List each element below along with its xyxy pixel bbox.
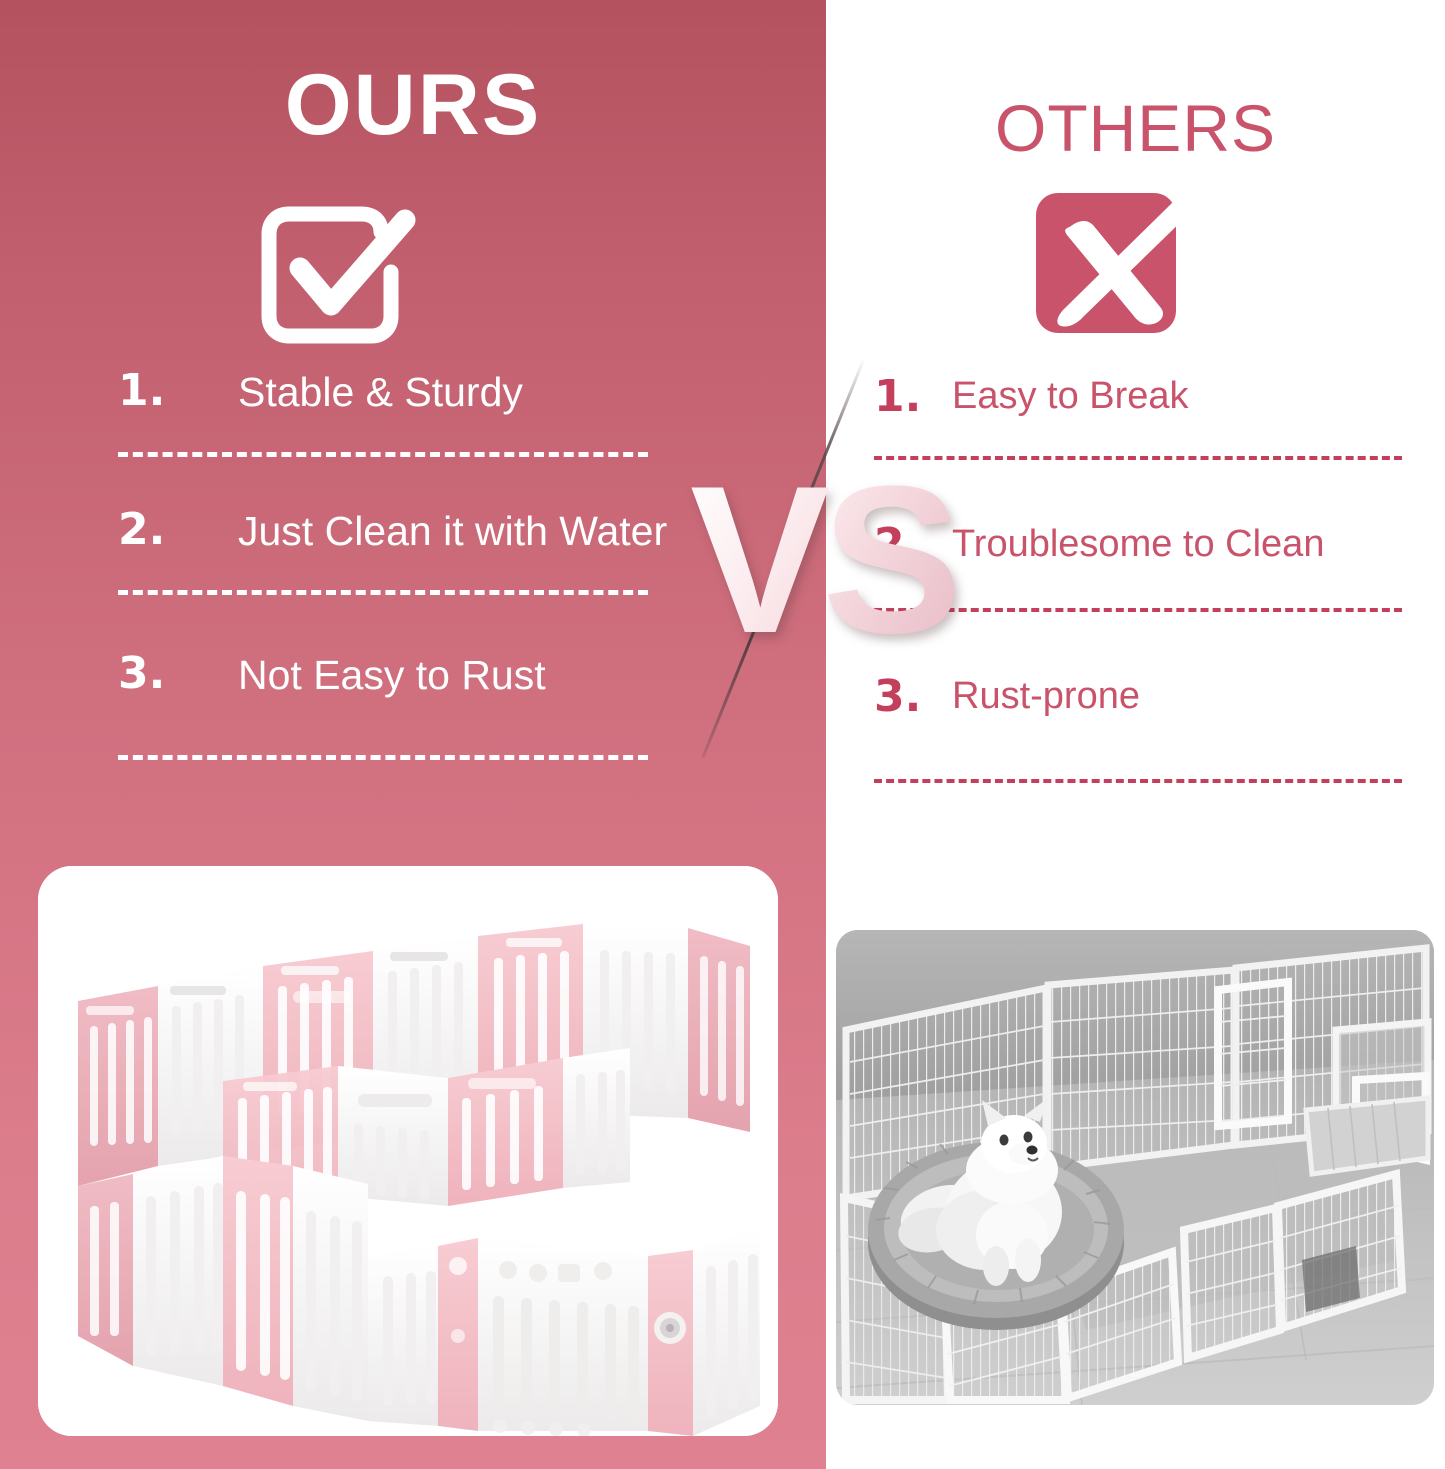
versus-label: VS <box>690 455 954 665</box>
list-item: 2. Troublesome to Clean <box>874 522 1414 568</box>
list-item: 1. Easy to Break <box>874 374 1414 420</box>
list-item-label: Rust-prone <box>952 674 1414 719</box>
list-item-label: Troublesome to Clean <box>952 522 1414 567</box>
list-item-label: Not Easy to Rust <box>238 651 678 699</box>
list-item-number: 2. <box>118 507 238 553</box>
list-item-number: 1. <box>118 368 238 414</box>
checkbox-check-icon <box>253 198 423 358</box>
list-item: 2. Just Clean it with Water <box>118 507 678 555</box>
ours-product-photo <box>38 866 778 1436</box>
others-product-photo <box>836 930 1434 1405</box>
list-item: 1. Stable & Sturdy <box>118 368 678 416</box>
others-heading: OTHERS <box>826 95 1445 161</box>
list-divider <box>118 755 648 760</box>
ours-feature-list: 1. Stable & Sturdy 2. Just Clean it with… <box>118 368 678 760</box>
list-item-number: 3. <box>118 651 238 697</box>
versus-graphic: VS <box>690 455 920 685</box>
comparison-infographic: OURS OTHERS 1. Stable & Sturdy 2. Just C… <box>0 0 1445 1469</box>
list-item-label: Just Clean it with Water <box>238 507 678 555</box>
list-item-label: Stable & Sturdy <box>238 368 678 416</box>
list-item-number: 1. <box>874 374 952 420</box>
list-item: 3. Rust-prone <box>874 674 1414 720</box>
list-divider <box>874 779 1402 783</box>
ours-heading: OURS <box>0 62 826 148</box>
cross-x-icon <box>1033 188 1198 363</box>
list-item-label: Easy to Break <box>952 374 1414 419</box>
list-item: 3. Not Easy to Rust <box>118 651 678 699</box>
others-feature-list: 1. Easy to Break 2. Troublesome to Clean… <box>874 374 1414 783</box>
